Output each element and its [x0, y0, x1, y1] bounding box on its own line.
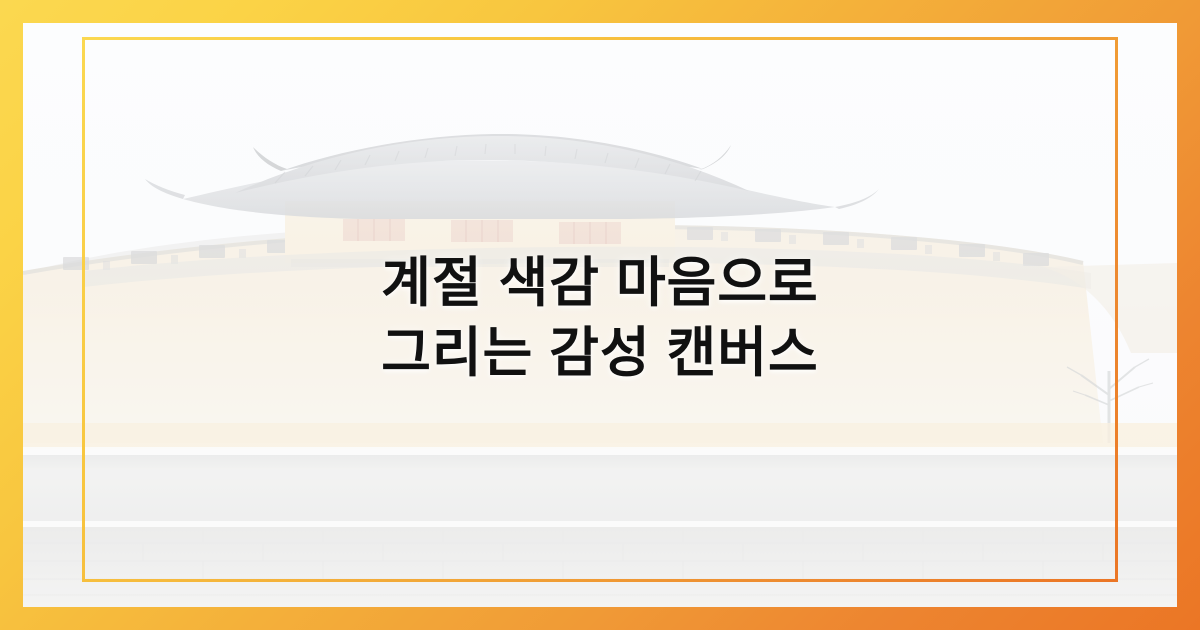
headline-line-2: 그리는 감성 캔버스	[60, 318, 1140, 388]
headline: 계절 색감 마음으로 그리는 감성 캔버스	[0, 248, 1200, 388]
promo-banner: 계절 색감 마음으로 그리는 감성 캔버스	[0, 0, 1200, 630]
headline-line-1: 계절 색감 마음으로	[60, 248, 1140, 318]
